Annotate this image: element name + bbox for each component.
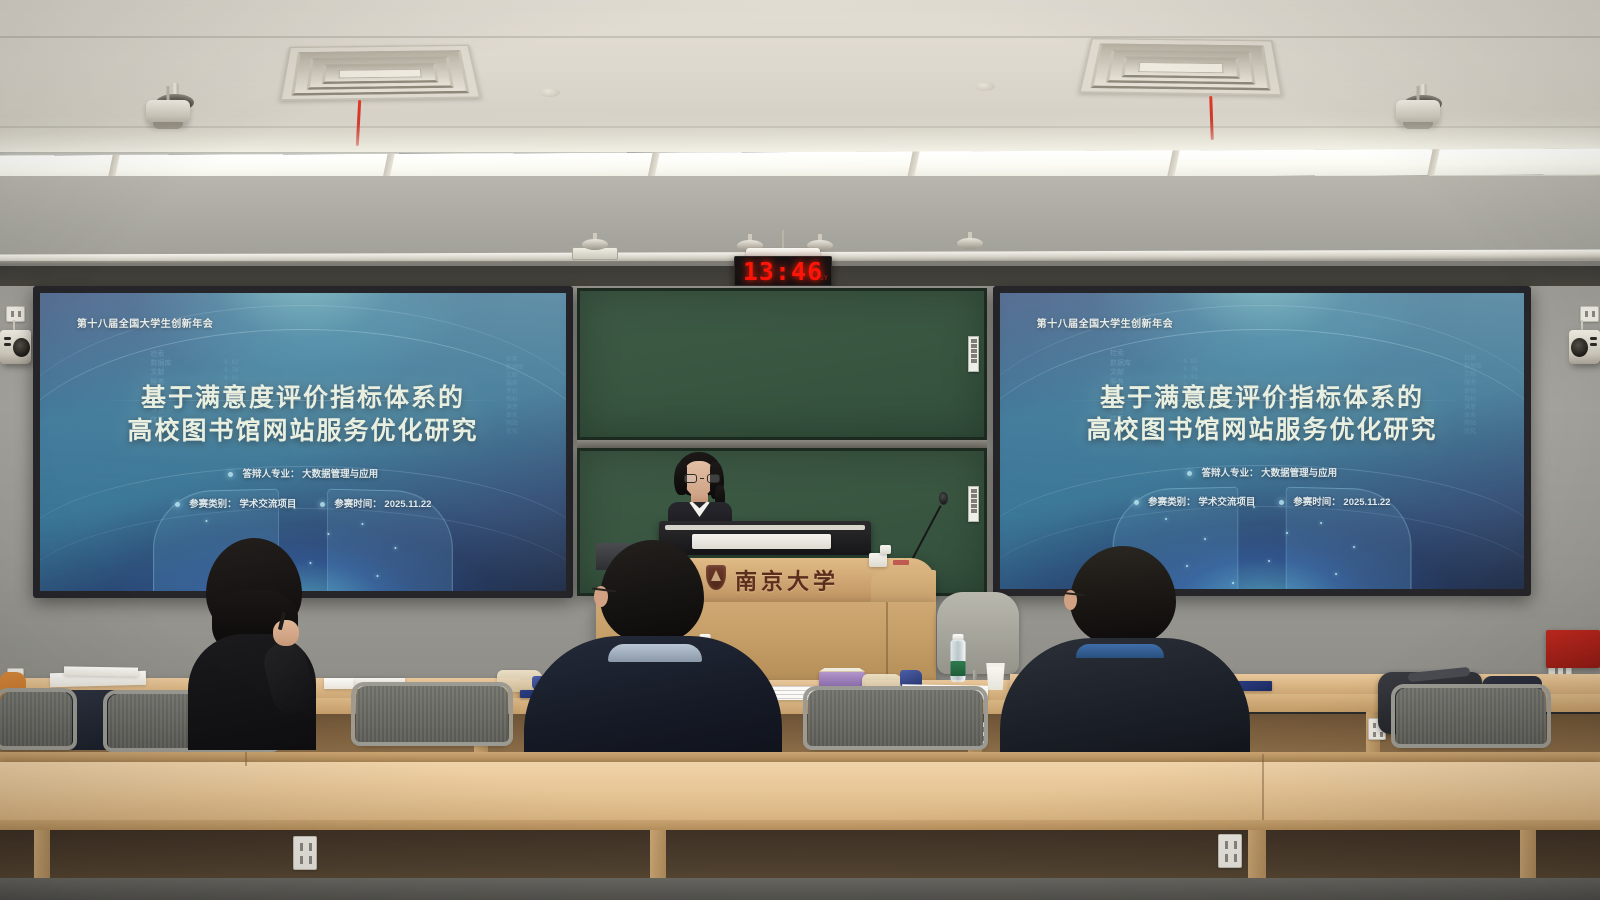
slide-category-value: 学术交流项目 — [239, 499, 296, 510]
chalkboard-divider-tray — [577, 440, 987, 448]
slide-meta-major: 答辩人专业： 大数据管理与应用 — [1000, 465, 1524, 479]
audience-center-shirt-collar — [608, 644, 702, 662]
slide-title-line1: 基于满意度评价指标体系的 — [40, 382, 566, 414]
front-desk-outlet-right[interactable] — [1218, 834, 1242, 868]
slide-meta-row2: 参赛类别： 学术交流项目 参赛时间： 2025.11.22 — [1000, 494, 1524, 508]
board-label-lower — [968, 486, 979, 522]
slide-bullet-icon — [1134, 500, 1139, 505]
slide-title-line1: 基于满意度评价指标体系的 — [1000, 382, 1524, 414]
hvac-diffuser-right — [1079, 38, 1283, 96]
front-desk-leg-c — [1248, 830, 1266, 882]
audience-center — [516, 540, 788, 752]
podium-tissue-box — [869, 553, 887, 567]
slide-date-value: 2025.11.22 — [384, 499, 431, 510]
slide-major-value: 大数据管理与应用 — [1261, 468, 1337, 479]
front-desk-seam-a — [245, 752, 247, 766]
ceiling-sensor-right — [955, 232, 985, 250]
slide-right: 检索 数据库 文献 服务 评价 指标 满意 体系 网站 优化 0.82 0.76… — [1000, 293, 1524, 589]
red-wall-box — [1546, 630, 1600, 668]
audience-right-head — [1070, 546, 1176, 646]
slide-bullet-icon — [1187, 471, 1192, 476]
slide-bullet-icon — [175, 502, 180, 507]
front-desk-leg-a — [34, 830, 50, 882]
slide-meta-row2: 参赛类别： 学术交流项目 参赛时间： 2025.11.22 — [40, 496, 566, 510]
slide-bullet-icon — [320, 502, 325, 507]
ceiling-access-dot-right — [975, 82, 995, 91]
audience-right — [1000, 546, 1280, 752]
clock-suffix-label: SY — [820, 274, 828, 282]
chair-3[interactable] — [356, 686, 508, 744]
front-desk-leg-d — [1520, 830, 1536, 882]
slide-bullet-icon — [228, 472, 233, 477]
clock-time-display: 13:46 — [743, 257, 823, 286]
slide-bullet-icon — [1279, 500, 1284, 505]
front-desk-cavity — [0, 830, 1600, 882]
papers-left-2 — [64, 666, 138, 676]
pendant-light-left — [138, 86, 198, 132]
slide-meta-major: 答辩人专业： 大数据管理与应用 — [40, 466, 566, 480]
slide-category-label: 参赛类别： — [189, 499, 237, 510]
ceiling-access-dot-left — [540, 88, 560, 97]
slide-date-label: 参赛时间： — [334, 499, 382, 510]
microphone-head-icon — [939, 492, 948, 505]
pendant-light-right — [1388, 86, 1448, 132]
front-desk-leg-b — [650, 830, 666, 882]
water-bottle-center-right — [947, 634, 969, 684]
ceiling — [0, 0, 1600, 152]
slide-title-line2: 高校图书馆网站服务优化研究 — [40, 415, 566, 447]
wall-speaker-right — [1569, 330, 1600, 364]
wall-speaker-left — [0, 330, 31, 364]
slide-title-line2: 高校图书馆网站服务优化研究 — [1000, 414, 1524, 446]
podium-marker — [893, 560, 909, 565]
podium-seam — [886, 602, 888, 680]
floor — [0, 878, 1600, 900]
slide-date-label: 参赛时间： — [1293, 497, 1341, 508]
front-desk-outlet-left[interactable] — [293, 836, 317, 870]
slide-category-value: 学术交流项目 — [1198, 497, 1255, 508]
slide-major-label: 答辩人专业： — [242, 469, 299, 480]
presenter-glasses — [684, 474, 720, 483]
lecture-hall-photo: 13:46 SY 检索 数据库 文献 服务 评 — [0, 0, 1600, 900]
digital-wall-clock: 13:46 SY — [734, 256, 832, 286]
hvac-diffuser-left — [280, 45, 482, 101]
ceiling-sensor-left — [580, 233, 610, 251]
slide-major-label: 答辩人专业： — [1201, 468, 1258, 479]
podium-small-item — [880, 545, 891, 554]
chair-7[interactable] — [1396, 688, 1546, 746]
slide-conference-label: 第十八届全国大学生创新年会 — [77, 315, 214, 330]
front-desk-seam-b — [1262, 754, 1264, 826]
chair-5[interactable] — [808, 690, 983, 748]
audience-left — [160, 538, 350, 750]
slide-category-label: 参赛类别： — [1148, 497, 1196, 508]
board-label-upper — [968, 336, 979, 372]
slide-major-value: 大数据管理与应用 — [302, 469, 378, 480]
chalkboard-upper — [577, 288, 987, 440]
chair-1[interactable] — [0, 692, 72, 748]
front-desk-surface — [0, 762, 1600, 824]
podium-notch — [871, 570, 936, 604]
slide-conference-label: 第十八届全国大学生创新年会 — [1037, 315, 1174, 330]
slide-date-value: 2025.11.22 — [1343, 497, 1390, 508]
audience-right-collar — [1076, 644, 1164, 658]
audience-left-hand — [273, 620, 299, 646]
